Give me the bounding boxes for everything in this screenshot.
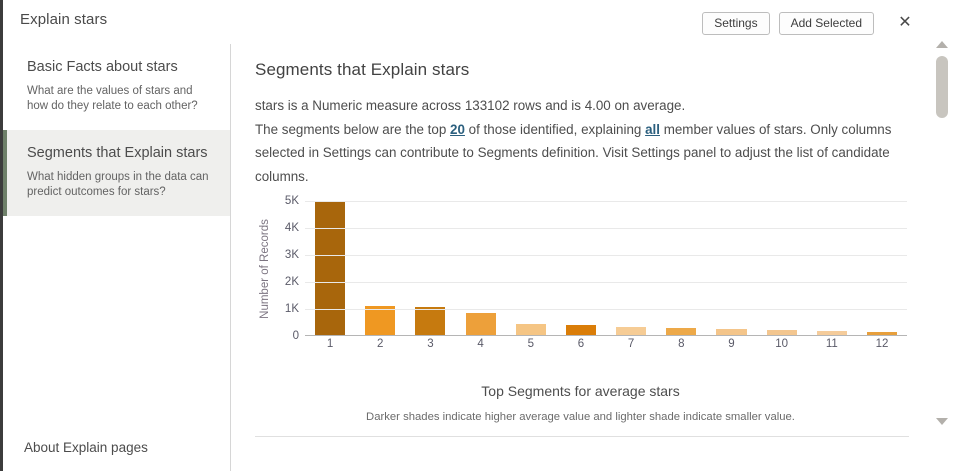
bar-slot — [857, 201, 907, 335]
explain-stars-window: Explain stars Settings Add Selected ✕ Ba… — [0, 0, 953, 471]
add-selected-button[interactable]: Add Selected — [779, 12, 874, 35]
gridline — [305, 228, 907, 229]
x-axis-tick-label: 4 — [456, 338, 506, 350]
window-left-edge — [0, 0, 3, 471]
x-axis-tick-label: 9 — [706, 338, 756, 350]
vertical-scrollbar[interactable] — [930, 0, 953, 471]
chart-subtitle-caption: Darker shades indicate higher average va… — [255, 411, 906, 423]
bar-slot — [706, 201, 756, 335]
y-axis-tick-labels: 01K2K3K4K5K — [273, 201, 299, 336]
x-axis-tick-labels: 123456789101112 — [305, 338, 907, 350]
bar-slot — [456, 201, 506, 335]
x-axis-tick-label: 1 — [305, 338, 355, 350]
sidebar-item-description: What are the values of stars and how do … — [27, 84, 213, 114]
x-axis-tick-label: 12 — [857, 338, 907, 350]
sidebar: Basic Facts about stars What are the val… — [3, 44, 231, 471]
bar[interactable] — [566, 325, 596, 335]
x-axis-line — [305, 335, 907, 336]
scroll-up-arrow-icon[interactable] — [936, 41, 948, 48]
x-axis-tick-label: 10 — [757, 338, 807, 350]
scroll-down-arrow-icon[interactable] — [936, 418, 948, 425]
window-header: Explain stars Settings Add Selected ✕ — [3, 0, 930, 44]
x-axis-tick-label: 8 — [656, 338, 706, 350]
bar-slot — [305, 201, 355, 335]
header-actions: Settings Add Selected ✕ — [702, 10, 930, 36]
bar[interactable] — [767, 330, 797, 335]
scrollbar-thumb[interactable] — [936, 56, 948, 118]
about-explain-pages-link[interactable]: About Explain pages — [24, 440, 148, 455]
summary-paragraph-1: stars is a Numeric measure across 133102… — [255, 94, 906, 118]
x-axis-tick-label: 2 — [355, 338, 405, 350]
bar[interactable] — [516, 324, 546, 335]
sidebar-item-description: What hidden groups in the data can predi… — [27, 170, 213, 200]
segments-bar-chart: Number of Records 01K2K3K4K5K 1234567891… — [255, 201, 911, 361]
gridline — [305, 255, 907, 256]
bar-slot — [405, 201, 455, 335]
bar-series — [305, 201, 907, 335]
chart-title-caption: Top Segments for average stars — [255, 383, 906, 399]
content-divider — [255, 436, 909, 437]
bar-slot — [355, 201, 405, 335]
gridline — [305, 282, 907, 283]
window-title: Explain stars — [20, 11, 107, 28]
bar[interactable] — [716, 329, 746, 335]
y-axis-tick-label: 0 — [293, 330, 299, 342]
y-axis-title-label: Number of Records — [259, 219, 271, 319]
main-content: Segments that Explain stars stars is a N… — [232, 44, 930, 471]
sidebar-footer: About Explain pages — [3, 439, 230, 471]
x-axis-tick-label: 7 — [606, 338, 656, 350]
bar[interactable] — [666, 328, 696, 335]
bar-slot — [656, 201, 706, 335]
top-count-link[interactable]: 20 — [450, 122, 465, 137]
y-axis-tick-label: 1K — [285, 303, 299, 315]
bar-slot — [506, 201, 556, 335]
all-members-link[interactable]: all — [645, 122, 660, 137]
bar-slot — [606, 201, 656, 335]
x-axis-tick-label: 3 — [405, 338, 455, 350]
bar-slot — [556, 201, 606, 335]
bar[interactable] — [365, 306, 395, 335]
x-axis-tick-label: 6 — [556, 338, 606, 350]
bar[interactable] — [315, 202, 345, 335]
y-axis-title: Number of Records — [257, 201, 273, 336]
y-axis-tick-label: 4K — [285, 222, 299, 234]
bar[interactable] — [817, 331, 847, 335]
bar[interactable] — [466, 313, 496, 336]
close-icon[interactable]: ✕ — [892, 10, 918, 36]
bar-slot — [807, 201, 857, 335]
y-axis-tick-label: 3K — [285, 249, 299, 261]
bar[interactable] — [616, 327, 646, 335]
sidebar-item-segments-that-explain[interactable]: Segments that Explain stars What hidden … — [3, 130, 230, 216]
bar[interactable] — [867, 332, 897, 335]
page-title: Segments that Explain stars — [255, 60, 906, 80]
sidebar-item-title: Basic Facts about stars — [27, 58, 213, 77]
para2-text-1: The segments below are the top — [255, 122, 450, 137]
x-axis-tick-label: 5 — [506, 338, 556, 350]
summary-paragraph-2: The segments below are the top 20 of tho… — [255, 118, 906, 189]
gridline — [305, 201, 907, 202]
para2-text-2: of those identified, explaining — [465, 122, 645, 137]
bar[interactable] — [415, 307, 445, 335]
y-axis-tick-label: 2K — [285, 276, 299, 288]
x-axis-tick-label: 11 — [807, 338, 857, 350]
settings-button[interactable]: Settings — [702, 12, 769, 35]
bar-slot — [757, 201, 807, 335]
sidebar-item-title: Segments that Explain stars — [27, 144, 213, 163]
y-axis-tick-label: 5K — [285, 195, 299, 207]
sidebar-item-basic-facts[interactable]: Basic Facts about stars What are the val… — [3, 44, 230, 130]
gridline — [305, 309, 907, 310]
chart-plot-area — [305, 201, 907, 336]
